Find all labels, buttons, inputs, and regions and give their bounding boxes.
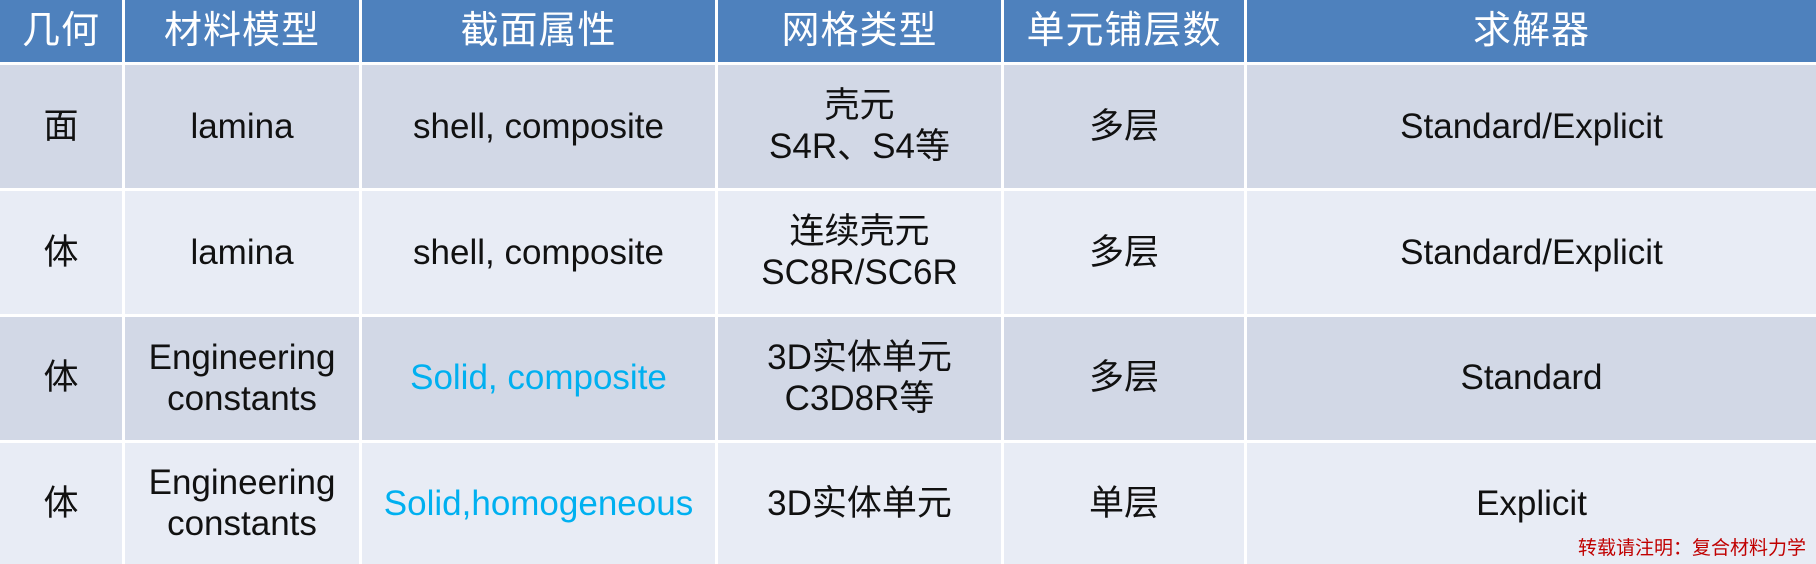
cell-mesh-type: 连续壳元 SC8R/SC6R (718, 191, 1004, 317)
cell-geometry: 体 (0, 191, 125, 317)
cell-element-layers: 多层 (1004, 65, 1247, 191)
cell-geometry: 面 (0, 65, 125, 191)
cell-material-model: lamina (125, 191, 362, 317)
mesh-type-line-1: 3D实体单元 (724, 483, 995, 524)
mesh-type-line-2: C3D8R等 (724, 378, 995, 419)
cell-section-property: shell, composite (362, 65, 718, 191)
abaqus-composite-modeling-table: 几何 材料模型 截面属性 网格类型 单元铺层数 求解器 面 lamina she… (0, 0, 1816, 564)
column-header-material-model: 材料模型 (125, 0, 362, 65)
column-header-section-property: 截面属性 (362, 0, 718, 65)
mesh-type-line-1: 壳元 (724, 85, 995, 126)
cell-material-model: Engineering constants (125, 443, 362, 564)
mesh-type-line-2: SC8R/SC6R (724, 252, 995, 293)
header-row: 几何 材料模型 截面属性 网格类型 单元铺层数 求解器 (0, 0, 1816, 65)
column-header-element-layers: 单元铺层数 (1004, 0, 1247, 65)
cell-solver: Standard/Explicit (1247, 191, 1816, 317)
mesh-type-line-1: 3D实体单元 (724, 337, 995, 378)
cell-material-model: lamina (125, 65, 362, 191)
cell-element-layers: 多层 (1004, 191, 1247, 317)
cell-mesh-type: 3D实体单元 (718, 443, 1004, 564)
mesh-type-line-2: S4R、S4等 (724, 126, 995, 167)
cell-element-layers: 单层 (1004, 443, 1247, 564)
table-header: 几何 材料模型 截面属性 网格类型 单元铺层数 求解器 (0, 0, 1816, 65)
mesh-type-line-1: 连续壳元 (724, 211, 995, 252)
cell-material-model: Engineering constants (125, 317, 362, 443)
table-body: 面 lamina shell, composite 壳元 S4R、S4等 多层 … (0, 65, 1816, 564)
cell-section-property: shell, composite (362, 191, 718, 317)
cell-element-layers: 多层 (1004, 317, 1247, 443)
cell-solver: Standard (1247, 317, 1816, 443)
table-row: 体 Engineering constants Solid,homogeneou… (0, 443, 1816, 564)
cell-solver: Explicit 转载请注明：复合材料力学 (1247, 443, 1816, 564)
cell-mesh-type: 壳元 S4R、S4等 (718, 65, 1004, 191)
table-row: 面 lamina shell, composite 壳元 S4R、S4等 多层 … (0, 65, 1816, 191)
cell-geometry: 体 (0, 317, 125, 443)
column-header-solver: 求解器 (1247, 0, 1816, 65)
cell-solver: Standard/Explicit (1247, 65, 1816, 191)
table-row: 体 Engineering constants Solid, composite… (0, 317, 1816, 443)
solver-label: Explicit (1476, 484, 1587, 523)
column-header-geometry: 几何 (0, 0, 125, 65)
comparison-table-container: 几何 材料模型 截面属性 网格类型 单元铺层数 求解器 面 lamina she… (0, 0, 1816, 564)
watermark-text: 转载请注明：复合材料力学 (1578, 538, 1806, 560)
table-row: 体 lamina shell, composite 连续壳元 SC8R/SC6R… (0, 191, 1816, 317)
cell-section-property: Solid,homogeneous (362, 443, 718, 564)
cell-section-property: Solid, composite (362, 317, 718, 443)
cell-mesh-type: 3D实体单元 C3D8R等 (718, 317, 1004, 443)
cell-geometry: 体 (0, 443, 125, 564)
column-header-mesh-type: 网格类型 (718, 0, 1004, 65)
